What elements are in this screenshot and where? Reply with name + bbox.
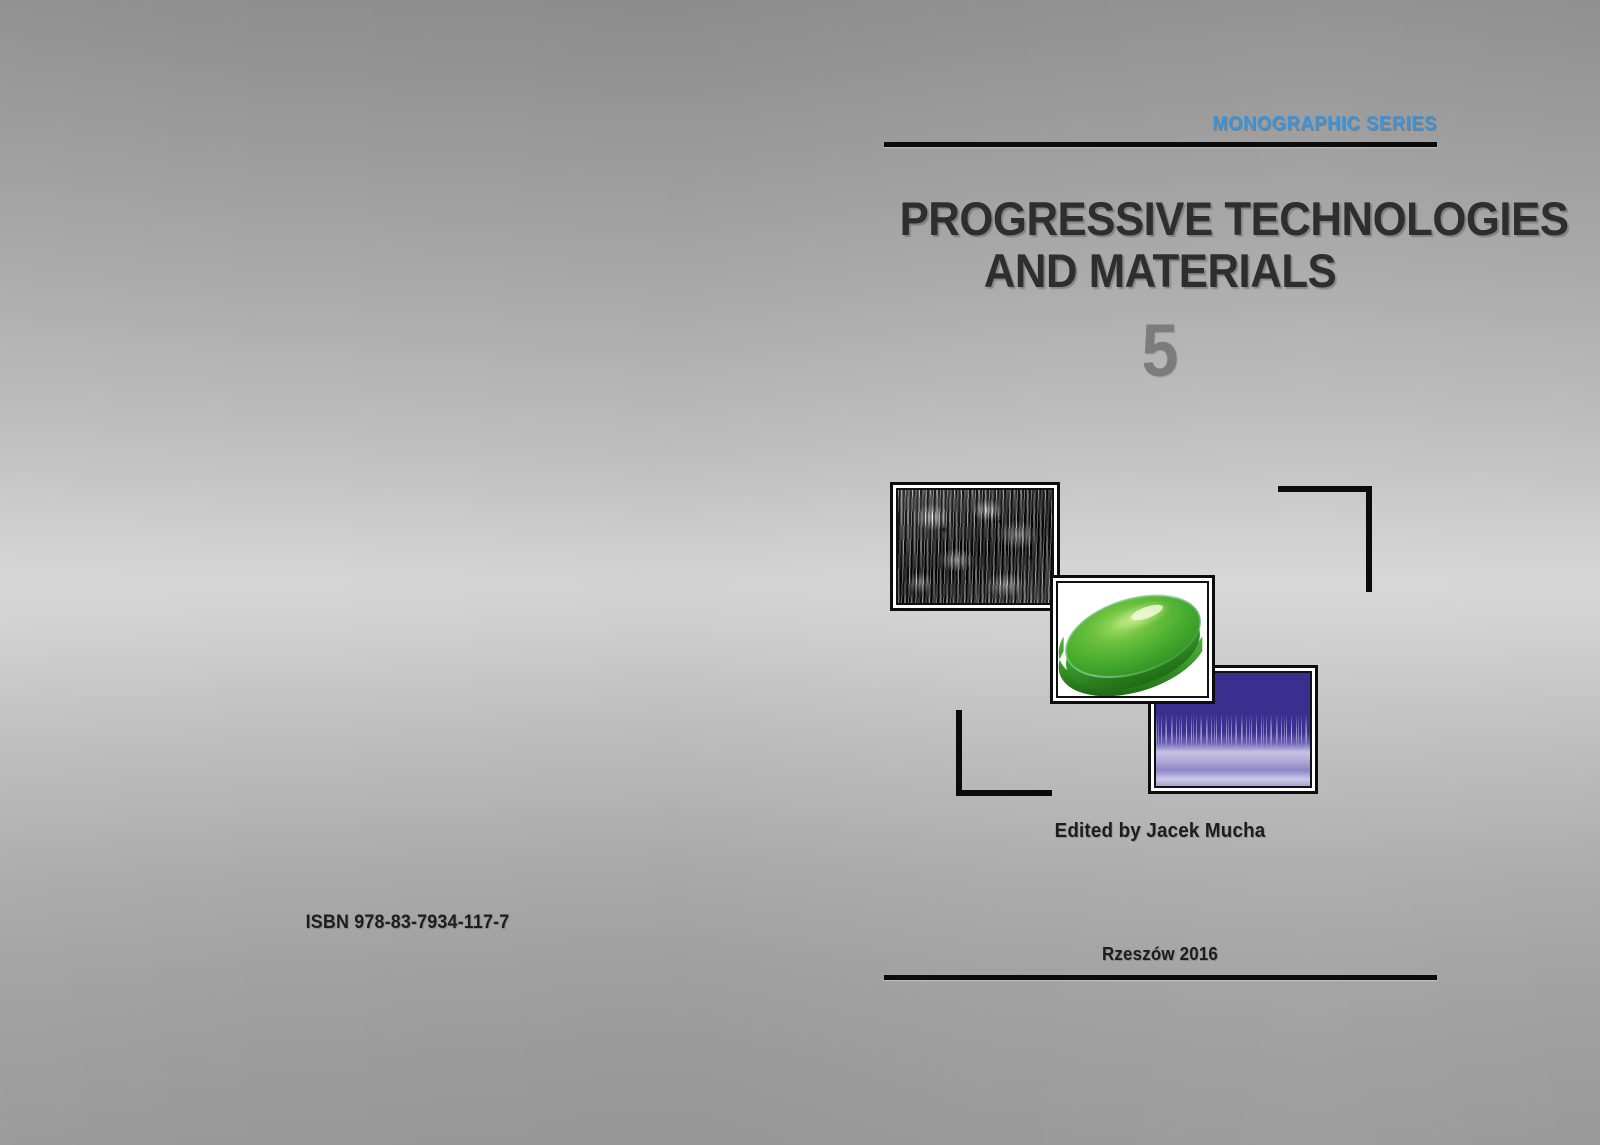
corner-bracket-bottom-left-icon xyxy=(956,710,1052,796)
front-cover-panel: MONOGRAPHIC SERIES PROGRESSIVE TECHNOLOG… xyxy=(880,0,1440,1145)
photo-sem-frame xyxy=(896,488,1054,605)
title-line-2: AND MATERIALS xyxy=(900,245,1421,297)
corner-bracket-top-right-icon xyxy=(1278,486,1372,592)
photo-sem-image xyxy=(898,490,1052,603)
green-ellipsoid-icon xyxy=(1058,583,1207,696)
volume-number: 5 xyxy=(908,314,1412,388)
cover-image-collage xyxy=(880,470,1440,810)
book-cover: ISBN 978-83-7934-117-7 MONOGRAPHIC SERIE… xyxy=(0,0,1600,1145)
editor-credit: Edited by Jacek Mucha xyxy=(897,820,1423,843)
photo-purple-speckle xyxy=(1156,714,1310,748)
series-label: MONOGRAPHIC SERIES xyxy=(925,113,1437,136)
top-rule xyxy=(884,142,1437,147)
photo-green-image xyxy=(1058,583,1207,696)
photo-sem-micrograph xyxy=(890,482,1060,611)
photo-green-ellipsoid xyxy=(1050,575,1215,704)
photo-green-frame xyxy=(1056,581,1209,698)
bottom-rule xyxy=(884,975,1437,980)
isbn-text: ISBN 978-83-7934-117-7 xyxy=(24,912,790,934)
place-and-year: Rzeszów 2016 xyxy=(897,944,1423,965)
book-title: PROGRESSIVE TECHNOLOGIES AND MATERIALS xyxy=(880,193,1440,297)
back-cover-panel: ISBN 978-83-7934-117-7 xyxy=(0,0,880,1145)
title-line-1: PROGRESSIVE TECHNOLOGIES xyxy=(900,193,1421,245)
